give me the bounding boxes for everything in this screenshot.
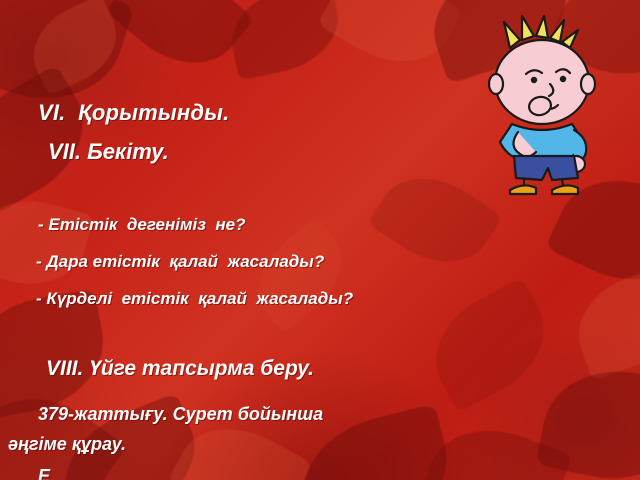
- question-1: - Етістік дегеніміз не?: [38, 215, 246, 235]
- question-3: - Күрделі етістік қалай жасалады?: [36, 289, 353, 309]
- homework-line-2: әңгіме құрау.: [8, 434, 126, 455]
- heading-bekitu: VII. Бекіту.: [48, 139, 169, 165]
- slide: VI. Қорытынды. VII. Бекіту. - Етістік де…: [0, 0, 640, 480]
- slide-text: VI. Қорытынды. VII. Бекіту. - Етістік де…: [0, 0, 640, 480]
- question-2: - Дара етістік қалай жасалады?: [36, 252, 324, 272]
- homework-line-3: Е: [38, 466, 50, 480]
- heading-homework: VIII. Үйге тапсырма беру.: [46, 357, 314, 381]
- homework-line-1: 379-жаттығу. Сурет бойынша: [38, 404, 323, 425]
- heading-konrytyndy: VI. Қорытынды.: [38, 100, 229, 126]
